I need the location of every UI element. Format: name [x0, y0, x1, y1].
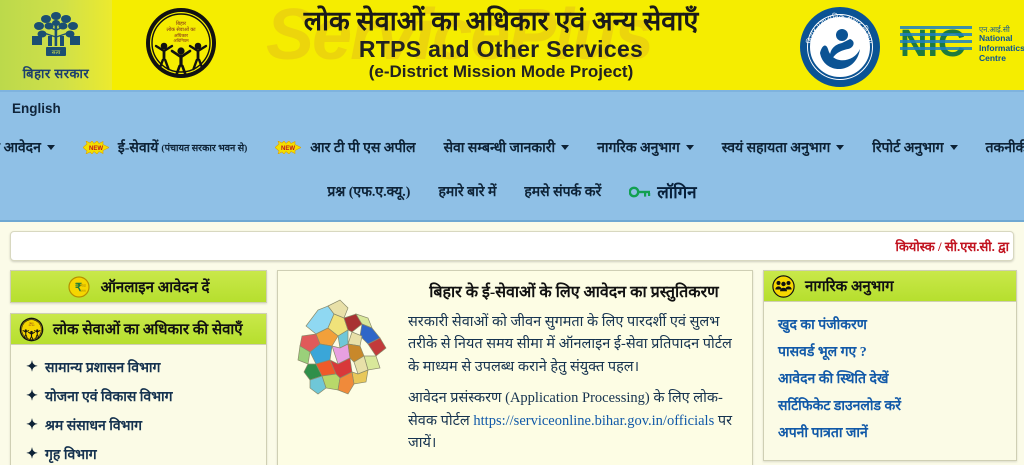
chevron-down-icon	[686, 145, 694, 150]
citizens-group-icon	[772, 275, 796, 298]
nav-item-6[interactable]: स्वयं सहायता अनुभाग	[708, 138, 858, 157]
nav-item-5[interactable]: नागरिक अनुभाग	[583, 138, 708, 157]
nav-secondary-label: प्रश्न (एफ.ए.क्यू.)	[327, 182, 410, 201]
new-badge-icon: NEW	[83, 141, 109, 154]
intro-title: बिहार के ई-सेवाओं के लिए आवेदन का प्रस्त…	[408, 280, 740, 302]
svg-text:अधिनियम: अधिनियम	[173, 38, 189, 43]
login-label: लॉगिन	[657, 180, 696, 203]
svg-text:सेवा: सेवा	[80, 283, 87, 288]
department-label: गृह विभाग	[45, 445, 97, 464]
bihar-emblem-icon: सत्य	[22, 6, 90, 64]
rupee-coin-icon: ₹ सेवा प्लस	[68, 276, 92, 298]
chevron-down-icon	[836, 145, 844, 150]
citizen-section-panel: नागरिक अनुभाग खुद का पंजीकरणपासवर्ड भूल …	[763, 270, 1017, 461]
plus-bullet-icon: ✦	[25, 446, 39, 463]
nav-item-label: ऑनलाइन आवेदन	[0, 138, 41, 157]
nav-row-secondary: प्रश्न (एफ.ए.क्यू.)हमारे बारे मेंहमसे सं…	[0, 180, 1024, 203]
chevron-down-icon	[950, 145, 958, 150]
apply-online-header[interactable]: ₹ सेवा प्लस ऑनलाइन आवेदन दें	[11, 271, 266, 302]
nav-item-7[interactable]: रिपोर्ट अनुभाग	[858, 138, 971, 157]
nav-item-2[interactable]: NEWई-सेवायें(पंचायत सरकार भवन से)	[69, 138, 261, 157]
header-subtitle: (e-District Mission Mode Project)	[369, 62, 633, 82]
department-label: योजना एवं विकास विभाग	[45, 387, 173, 406]
citizen-link-list: खुद का पंजीकरणपासवर्ड भूल गए ?आवेदन की स…	[776, 311, 1004, 446]
bihar-government-label: बिहार सरकार	[0, 64, 112, 82]
nav-secondary-label: हमसे संपर्क करें	[524, 182, 601, 201]
officials-portal-link[interactable]: https://serviceonline.bihar.gov.in/offic…	[473, 413, 714, 429]
nav-item-label: ई-सेवायें	[118, 138, 159, 157]
bihar-development-logo: बिहार प्रशासनिक सुधार विभाग	[790, 0, 894, 90]
site-header: सत्य बिहार सरकार बिहार लोक सेवाओं का अधि…	[0, 0, 1024, 92]
nav-item-8[interactable]: तकनीकी सहायता	[972, 138, 1024, 157]
apply-online-panel[interactable]: ₹ सेवा प्लस ऑनलाइन आवेदन दें	[10, 270, 267, 303]
citizen-link-5[interactable]: अपनी पात्रता जानें	[776, 419, 1004, 446]
nav-item-label: नागरिक अनुभाग	[597, 138, 680, 157]
nav-item-4[interactable]: सेवा सम्बन्धी जानकारी	[430, 138, 584, 157]
header-title-block: ServicePlus लोक सेवाओं का अधिकार एवं अन्…	[222, 0, 790, 90]
svg-text:सत्य: सत्य	[52, 50, 61, 56]
citizen-section-header: नागरिक अनुभाग	[764, 271, 1016, 302]
nav-secondary-label: हमारे बारे में	[438, 182, 496, 201]
chevron-down-icon	[47, 145, 55, 150]
key-icon	[629, 186, 651, 198]
rtps-seal-icon: बिहार लोक सेवाओं का अधिकार अधिनियम	[144, 6, 218, 80]
intro-text-block: बिहार के ई-सेवाओं के लिए आवेदन का प्रस्त…	[408, 280, 740, 464]
plus-bullet-icon: ✦	[25, 388, 39, 405]
citizen-link-1[interactable]: खुद का पंजीकरण	[776, 311, 1004, 338]
bihar-district-map	[288, 280, 398, 464]
nav-secondary-item-1[interactable]: प्रश्न (एफ.ए.क्यू.)	[313, 182, 424, 201]
plus-bullet-icon: ✦	[25, 359, 39, 376]
header-title-hindi: लोक सेवाओं का अधिकार एवं अन्य सेवाएँ	[304, 7, 699, 36]
department-label: श्रम संसाधन विभाग	[45, 416, 142, 435]
chevron-down-icon	[561, 145, 569, 150]
svg-text:बिहार: बिहार	[176, 20, 187, 27]
nic-logo: NIC NIC एन.आई.सी National Informatics Ce…	[894, 0, 1024, 90]
announcement-marquee[interactable]: कियोस्क / सी.एस.सी. द्वा	[10, 231, 1014, 261]
apply-online-title: ऑनलाइन आवेदन दें	[101, 277, 210, 297]
login-button[interactable]: लॉगिन	[615, 180, 710, 203]
citizen-link-4[interactable]: सर्टिफिकेट डाउनलोड करें	[776, 392, 1004, 419]
left-column: ₹ सेवा प्लस ऑनलाइन आवेदन दें बिहार लोक स	[10, 270, 267, 465]
citizen-section-title: नागरिक अनुभाग	[805, 276, 894, 296]
nav-item-1[interactable]: ऑनलाइन आवेदन	[0, 138, 69, 157]
department-item-1[interactable]: ✦सामान्य प्रशासन विभाग	[21, 353, 256, 382]
svg-text:NEW: NEW	[281, 146, 295, 152]
center-column: बिहार के ई-सेवाओं के लिए आवेदन का प्रस्त…	[277, 270, 753, 465]
rtps-seal-icon: बिहार लोक सेवा	[19, 317, 44, 342]
language-toggle[interactable]: English	[12, 101, 61, 116]
rtps-services-title: लोक सेवाओं का अधिकार की सेवाएँ	[53, 319, 243, 339]
svg-text:National: National	[979, 33, 1013, 43]
svg-text:प्लस: प्लस	[80, 289, 86, 293]
department-item-2[interactable]: ✦योजना एवं विकास विभाग	[21, 382, 256, 411]
nav-item-label: सेवा सम्बन्धी जानकारी	[444, 138, 556, 157]
nav-secondary-item-3[interactable]: हमसे संपर्क करें	[510, 182, 615, 201]
rtps-services-panel: बिहार लोक सेवा	[10, 313, 267, 465]
header-title-english: RTPS and Other Services	[359, 37, 643, 63]
nic-logo-icon: NIC NIC एन.आई.सी National Informatics Ce…	[900, 20, 1024, 70]
svg-text:Informatics: Informatics	[979, 43, 1024, 53]
intro-panel: बिहार के ई-सेवाओं के लिए आवेदन का प्रस्त…	[277, 270, 753, 465]
main-content: ₹ सेवा प्लस ऑनलाइन आवेदन दें बिहार लोक स	[0, 261, 1024, 465]
intro-paragraph-1: सरकारी सेवाओं को जीवन सुगमता के लिए पारद…	[408, 311, 740, 378]
department-label: सामान्य प्रशासन विभाग	[45, 358, 160, 377]
plus-bullet-icon: ✦	[25, 417, 39, 434]
nav-item-sublabel: (पंचायत सरकार भवन से)	[161, 141, 247, 154]
nav-item-label: रिपोर्ट अनुभाग	[872, 138, 943, 157]
intro-paragraph-2: आवेदन प्रसंस्करण (Application Processing…	[408, 387, 740, 454]
citizen-link-3[interactable]: आवेदन की स्थिति देखें	[776, 365, 1004, 392]
svg-text:लोक सेवाओं का: लोक सेवाओं का	[166, 26, 196, 33]
nav-secondary-item-2[interactable]: हमारे बारे में	[424, 182, 510, 201]
citizen-link-2[interactable]: पासवर्ड भूल गए ?	[776, 338, 1004, 365]
nav-item-3[interactable]: NEWआर टी पी एस अपील	[261, 138, 429, 157]
nav-item-label: तकनीकी सहायता	[986, 138, 1024, 157]
bihar-development-seal-icon: बिहार प्रशासनिक सुधार विभाग	[798, 5, 882, 89]
rtps-services-header: बिहार लोक सेवा	[11, 314, 266, 345]
department-list: ✦सामान्य प्रशासन विभाग✦योजना एवं विकास व…	[21, 353, 256, 465]
nav-item-label: स्वयं सहायता अनुभाग	[722, 138, 830, 157]
main-navigation: English ऑनलाइन आवेदनNEWई-सेवायें(पंचायत …	[0, 92, 1024, 222]
nav-item-label: आर टी पी एस अपील	[310, 138, 415, 157]
svg-text:NEW: NEW	[89, 146, 103, 152]
department-item-3[interactable]: ✦श्रम संसाधन विभाग	[21, 411, 256, 440]
right-column: नागरिक अनुभाग खुद का पंजीकरणपासवर्ड भूल …	[763, 270, 1017, 465]
marquee-text: कियोस्क / सी.एस.सी. द्वा	[895, 237, 1009, 255]
nav-row-primary: ऑनलाइन आवेदनNEWई-सेवायें(पंचायत सरकार भव…	[0, 138, 1024, 157]
svg-text:Centre: Centre	[979, 53, 1006, 63]
bihar-government-logo: सत्य बिहार सरकार	[0, 0, 112, 90]
rtps-seal-logo: बिहार लोक सेवाओं का अधिकार अधिनियम	[112, 0, 222, 90]
new-badge-icon: NEW	[275, 141, 301, 154]
department-item-4[interactable]: ✦गृह विभाग	[21, 440, 256, 465]
